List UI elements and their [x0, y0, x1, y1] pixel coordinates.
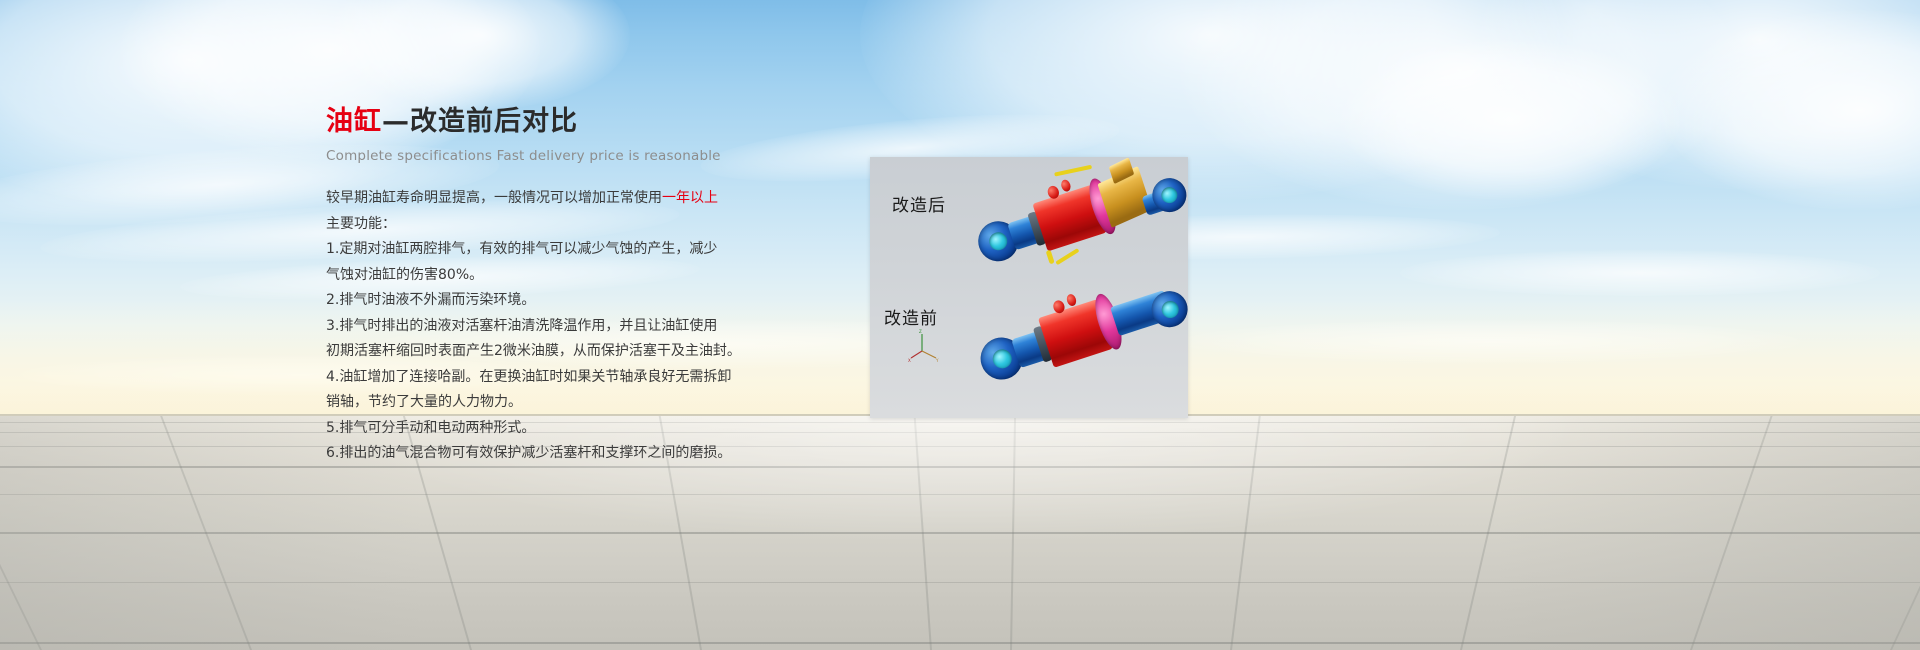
feature-line: 初期活塞杆缩回时表面产生2微米油膜，从而保护活塞干及主油封。 — [326, 339, 886, 365]
paved-ground — [0, 416, 1920, 650]
cad-axis-triad-icon: Z X Y — [908, 329, 942, 363]
feature-line: 5.排气可分手动和电动两种形式。 — [326, 416, 886, 442]
intro-line-2: 主要功能： — [326, 212, 886, 238]
feature-line: 4.油缸增加了连接哈副。在更换油缸时如果关节轴承良好无需拆卸 — [326, 365, 886, 391]
page-title-rest: —改造前后对比 — [382, 106, 578, 137]
bleed-hose — [1054, 165, 1092, 177]
cloud-shape — [1480, 0, 1920, 190]
feature-line: 6.排出的油气混合物可有效保护减少活塞杆和支撑环之间的磨损。 — [326, 441, 886, 467]
page-title: 油缸—改造前后对比 — [326, 106, 886, 138]
cloud-shape — [1340, 40, 1680, 200]
page-subtitle: Complete specifications Fast delivery pr… — [326, 148, 886, 164]
cloud-shape — [330, 0, 630, 110]
label-before-modification: 改造前 — [884, 304, 938, 329]
feature-description: 较早期油缸寿命明显提高，一般情况可以增加正常使用一年以上 主要功能： 1.定期对… — [326, 186, 886, 467]
feature-line: 销轴，节约了大量的人力物力。 — [326, 390, 886, 416]
label-after-modification: 改造后 — [892, 191, 946, 216]
intro-line-1-text: 较早期油缸寿命明显提高，一般情况可以增加正常使用 — [326, 190, 662, 206]
feature-line: 2.排气时油液不外漏而污染环境。 — [326, 288, 886, 314]
feature-line: 气蚀对油缸的伤害80%。 — [326, 263, 886, 289]
banner-copy: 油缸—改造前后对比 Complete specifications Fast d… — [326, 106, 886, 467]
bleed-hose-lower — [1055, 248, 1079, 265]
cloud-shape — [1180, 0, 1740, 210]
hero-banner: 油缸—改造前后对比 Complete specifications Fast d… — [0, 0, 1920, 650]
ground-shading — [0, 416, 1920, 650]
feature-line: 1.定期对油缸两腔排气，有效的排气可以减少气蚀的产生，减少 — [326, 237, 886, 263]
bleed-hose-link — [1046, 250, 1055, 265]
svg-text:Z: Z — [919, 329, 922, 334]
svg-text:X: X — [908, 358, 911, 363]
cloud-shape — [1660, 10, 1920, 210]
intro-highlight: 一年以上 — [662, 190, 718, 206]
page-title-accent: 油缸 — [326, 106, 382, 137]
svg-text:Y: Y — [935, 358, 939, 363]
cloud-wisp — [1400, 250, 1880, 296]
intro-line-1: 较早期油缸寿命明显提高，一般情况可以增加正常使用一年以上 — [326, 186, 886, 212]
feature-line: 3.排气时排出的油液对活塞杆油清洗降温作用，并且让油缸使用 — [326, 314, 886, 340]
product-comparison-image: 改造后 改造前 Z X Y — [870, 157, 1188, 418]
